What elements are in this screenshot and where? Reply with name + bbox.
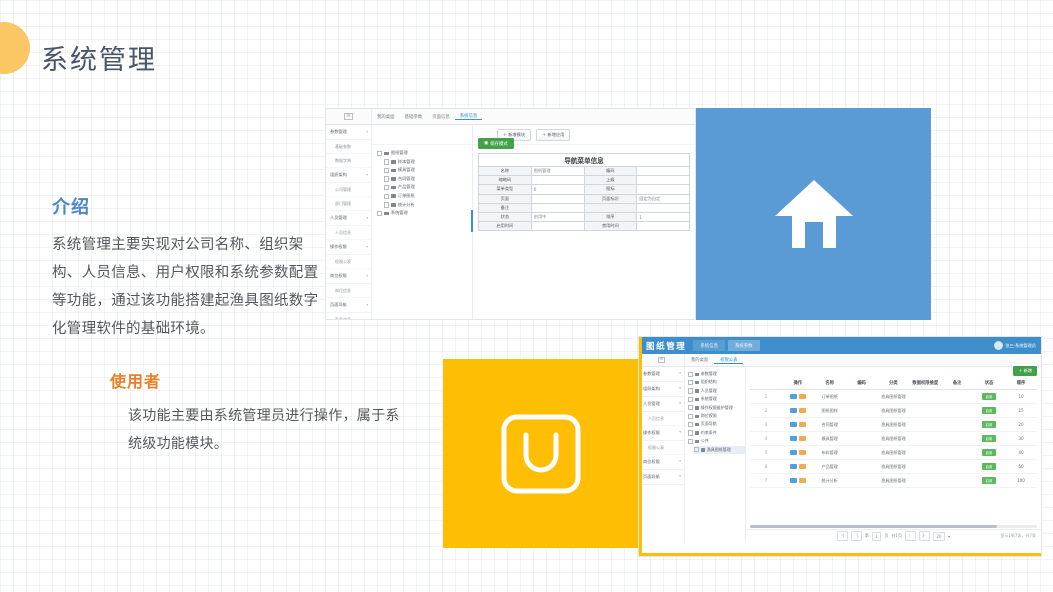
col-header-2: 名称	[814, 377, 846, 390]
intro-body: 系统管理主要实现对公司名称、组织架构、人员信息、用户权限和系统参数配置等功能，通…	[52, 231, 324, 343]
col-header-1: 操作	[782, 377, 814, 390]
checkbox-icon[interactable]	[377, 211, 382, 216]
row-index: 6	[750, 460, 782, 474]
checkbox-icon[interactable]	[688, 397, 693, 402]
sidebar-item-6[interactable]: 人员管理▾	[326, 211, 371, 226]
sub-tab-1[interactable]: 权限公表	[714, 357, 743, 364]
folder-icon	[391, 177, 396, 181]
form-row-3: 页面页面标识固定为自定	[479, 194, 690, 203]
table-row[interactable]: 2图纸图样渔具图纸管理启用15	[750, 404, 1037, 418]
row-name: 产品管理	[814, 460, 846, 474]
tree2-node-label: 页面导航	[701, 420, 717, 428]
view-icon[interactable]	[790, 464, 797, 470]
app-logo: 图纸管理	[639, 340, 693, 352]
tree2-node-5[interactable]: 岗位权限	[688, 412, 745, 420]
row-actions[interactable]	[782, 390, 814, 404]
page-input[interactable]: 1	[872, 532, 882, 541]
row-status: 启用	[973, 474, 1005, 488]
view-icon[interactable]	[790, 422, 797, 428]
checkbox-icon[interactable]	[384, 168, 389, 173]
sidebar-item-2[interactable]: 数据字典	[326, 154, 371, 168]
navigation-menu-form: ▣ 保存模式 导航菜单信息 名称图纸管理编码缩略码上级菜单类型0图标页面页面标识…	[473, 125, 695, 320]
chevron-down-icon: ▾	[366, 245, 368, 249]
record-total-text: 显示1到7条，共7条	[1000, 533, 1036, 539]
avatar	[994, 341, 1003, 350]
sidebar-item-7[interactable]: 人员信息	[326, 226, 371, 240]
shot2-left-accent	[639, 337, 642, 556]
table-row[interactable]: 7统计分析渔具图纸管理启用100	[750, 474, 1037, 488]
form-title: 导航菜单信息	[479, 154, 690, 167]
tree2-node-6[interactable]: 页面导航	[688, 420, 745, 428]
row-name: 订单图纸	[814, 390, 846, 404]
sidebar-item-5[interactable]: 部门管理	[326, 197, 371, 211]
sidebar2-item-3[interactable]: 人员信息	[639, 412, 684, 426]
row-dimension	[909, 474, 941, 488]
folder-icon	[695, 398, 699, 401]
chevron-down-icon: ▾	[679, 371, 681, 377]
shot2-main: ＋ 新增 操作名称编码分类数据权限维度备注状态顺序 1订单图纸渔具图纸管理启用1…	[746, 367, 1041, 542]
row-note	[941, 446, 973, 460]
folder-icon	[695, 406, 699, 409]
row-code	[846, 390, 878, 404]
form-label-right: 禁用时间	[584, 222, 637, 231]
chevron-down-icon: ▾	[366, 303, 368, 307]
status-badge: 启用	[982, 435, 996, 442]
edit-icon[interactable]	[799, 464, 806, 470]
row-order: 15	[1005, 404, 1037, 418]
row-dimension	[909, 418, 941, 432]
sidebar-group-label: 岗位权限	[330, 273, 347, 279]
edit-icon[interactable]	[799, 394, 806, 400]
user-name: 张三·系统管理员	[1005, 343, 1036, 349]
save-icon: ▣	[484, 141, 488, 146]
page-label: 第	[865, 533, 869, 539]
row-note	[941, 390, 973, 404]
form-row-4: 备注	[479, 203, 690, 212]
row-category: 渔具图纸管理	[878, 460, 910, 474]
row-note	[941, 460, 973, 474]
row-category: 渔具图纸管理	[878, 432, 910, 446]
row-dimension	[909, 390, 941, 404]
checkbox-icon[interactable]	[688, 439, 693, 444]
row-note	[941, 404, 973, 418]
form-label-left: 缩略码	[479, 176, 532, 185]
tab-0[interactable]: 我的桌面	[372, 114, 400, 120]
page-size-select[interactable]: 20	[933, 532, 945, 541]
checkbox-icon[interactable]	[384, 194, 389, 199]
row-order: 50	[1005, 460, 1037, 474]
folder-icon	[695, 440, 699, 443]
row-code	[846, 404, 878, 418]
sidebar2-item-7[interactable]: 页面导航▾	[639, 470, 684, 485]
sidebar-collapse-button[interactable]: ≡	[326, 109, 372, 124]
row-note	[941, 418, 973, 432]
tree-node-label: 样本管理	[398, 158, 415, 167]
col-header-4: 分类	[878, 377, 910, 390]
sub-tab-0[interactable]: 我的桌面	[685, 357, 714, 363]
form-label-left: 菜单类型	[479, 185, 532, 194]
checkbox-icon[interactable]	[384, 185, 389, 190]
row-note	[941, 474, 973, 488]
folder-icon	[695, 431, 699, 434]
horizontal-scrollbar[interactable]	[750, 525, 1037, 528]
intro-section: 介绍 系统管理主要实现对公司名称、组织架构、人员信息、用户权限和系统参数配置等功…	[52, 193, 324, 343]
user-heading: 使用者	[110, 368, 400, 392]
form-row-5: 状态启用中排序1	[479, 212, 690, 221]
row-order: 20	[1005, 418, 1037, 432]
row-category: 渔具图纸管理	[878, 474, 910, 488]
tree2-node-label: 人员管理	[701, 387, 717, 395]
sidebar-item-9[interactable]: 权限公表	[326, 255, 371, 269]
row-status: 启用	[973, 460, 1005, 474]
row-order: 30	[1005, 432, 1037, 446]
sidebar-group-label: 页面导航	[330, 302, 347, 308]
folder-icon	[391, 194, 396, 198]
tree2-node-label: 公共	[701, 437, 709, 445]
shot2-category-tree: 参数管理组织结构人员管理系统管理操作权限维护管理岗位权限页面导航约束条件公共渔具…	[685, 367, 746, 542]
sidebar-group-label: 人员管理	[643, 401, 660, 407]
checkbox-icon[interactable]	[688, 380, 693, 385]
row-actions[interactable]	[782, 460, 814, 474]
tree2-node-2[interactable]: 人员管理	[688, 387, 745, 395]
shot1-tabbar: ≡ 我的桌面基础参数页面信息系统信息	[326, 109, 695, 125]
folder-icon	[695, 415, 699, 418]
row-code	[846, 474, 878, 488]
form-value-left[interactable]: 图纸管理	[531, 167, 584, 176]
accent-circle-decoration	[0, 22, 30, 74]
shot1-main: ＋ 新增模块 ＋ 新增应用 图纸管理样本管理模具管理合同管理产品管理订单图纸统计…	[372, 125, 695, 320]
sidebar-item-4[interactable]: 公司管理	[326, 183, 371, 197]
tree2-node-3[interactable]: 系统管理	[688, 395, 745, 403]
row-category: 渔具图纸管理	[878, 418, 910, 432]
sidebar-group-label: 操作权限	[330, 244, 347, 250]
shot2-subtabbar: ≡ 我的桌面权限公表	[639, 354, 1041, 367]
status-badge: 启用	[982, 449, 996, 456]
tab-2[interactable]: 页面信息	[427, 114, 455, 120]
view-icon[interactable]	[790, 408, 797, 414]
row-name: 模具管理	[814, 432, 846, 446]
add-button[interactable]: ＋ 新增	[1013, 366, 1037, 376]
sidebar-item-3[interactable]: 组织架构▾	[326, 168, 371, 183]
col-header-6: 备注	[941, 377, 973, 390]
sidebar-group-label: 参数管理	[643, 371, 660, 377]
sidebar-group-label: 组织架构	[330, 172, 347, 178]
row-code	[846, 460, 878, 474]
tree2-node-label: 系统管理	[701, 395, 717, 403]
folder-icon	[391, 186, 396, 190]
form-value-right[interactable]	[637, 222, 690, 231]
sidebar2-item-1[interactable]: 组织架构▾	[639, 382, 684, 397]
last-page-button[interactable]: 》	[919, 531, 930, 541]
tree-node-label: 模具管理	[398, 166, 415, 175]
shot2-body: 参数管理▾组织架构▾人员管理▾人员信息操作权限▾权限公表岗位权限▾页面导航▾ 参…	[639, 367, 1041, 542]
tree-node-label: 系统管理	[391, 209, 408, 218]
tree2-node-9[interactable]: 渔具图纸管理	[694, 446, 745, 454]
view-icon[interactable]	[790, 478, 797, 484]
tab-3[interactable]: 系统信息	[455, 113, 483, 120]
user-section: 使用者 该功能主要由系统管理员进行操作，属于系统级功能模块。	[110, 368, 400, 458]
intro-heading: 介绍	[52, 193, 324, 219]
row-status: 启用	[973, 432, 1005, 446]
screenshot-navigation-menu-admin: ≡ 我的桌面基础参数页面信息系统信息 参数管理▾基础参数数据字典组织架构▾公司管…	[325, 108, 696, 320]
table-row[interactable]: 1订单图纸渔具图纸管理启用10	[750, 390, 1037, 404]
row-dimension	[909, 404, 941, 418]
col-header-5: 数据权限维度	[909, 377, 941, 390]
tree-node-label: 合同管理	[398, 175, 415, 184]
folder-icon	[384, 152, 389, 156]
row-category: 渔具图纸管理	[878, 404, 910, 418]
user-menu[interactable]: 张三·系统管理员	[994, 341, 1036, 350]
permission-table: 操作名称编码分类数据权限维度备注状态顺序 1订单图纸渔具图纸管理启用102图纸图…	[750, 377, 1037, 488]
row-status: 启用	[973, 404, 1005, 418]
yellow-app-panel	[443, 359, 639, 548]
tree-node-label: 图纸管理	[391, 149, 408, 158]
form-value-left[interactable]	[531, 203, 584, 212]
tree2-node-4[interactable]: 操作权限维护管理	[688, 404, 745, 412]
total-pages-label: 共1页	[891, 533, 902, 539]
checkbox-icon[interactable]	[384, 176, 389, 181]
form-value-right[interactable]	[637, 185, 690, 194]
form-value-right[interactable]	[637, 203, 690, 212]
tree-node-label: 订单图纸	[398, 192, 415, 201]
form-row-0: 名称图纸管理编码	[479, 167, 690, 176]
tree-node-label: 产品管理	[398, 183, 415, 192]
status-badge: 启用	[982, 393, 996, 400]
tree2-node-label: 参数管理	[701, 370, 717, 378]
sidebar-item-11[interactable]: 岗位信息	[326, 284, 371, 298]
edit-icon[interactable]	[799, 478, 806, 484]
row-category: 渔具图纸管理	[878, 390, 910, 404]
form-value-right[interactable]	[637, 167, 690, 176]
checkbox-icon[interactable]	[694, 447, 699, 452]
checkbox-icon[interactable]	[377, 151, 382, 156]
row-code	[846, 446, 878, 460]
page-of-label: 页	[884, 533, 888, 539]
chevron-down-icon: ▾	[948, 534, 950, 539]
form-row-6: 启用时间禁用时间	[479, 222, 690, 231]
form-row-1: 缩略码上级	[479, 176, 690, 185]
folder-icon	[391, 203, 396, 207]
edit-icon[interactable]	[799, 450, 806, 456]
tab-1[interactable]: 基础参数	[400, 114, 428, 120]
edit-icon[interactable]	[799, 408, 806, 414]
sidebar-group-label: 操作权限	[643, 430, 660, 436]
row-dimension	[909, 446, 941, 460]
col-header-3: 编码	[846, 377, 878, 390]
home-icon	[773, 178, 855, 250]
checkbox-icon[interactable]	[384, 202, 389, 207]
sidebar-group-label: 岗位权限	[643, 459, 660, 465]
row-index: 3	[750, 418, 782, 432]
form-label-right: 上级	[584, 176, 637, 185]
view-icon[interactable]	[790, 436, 797, 442]
form-value-left[interactable]	[531, 194, 584, 203]
save-mode-button[interactable]: ▣ 保存模式	[478, 138, 514, 149]
row-actions[interactable]	[782, 404, 814, 418]
tree2-node-label: 渔具图纸管理	[707, 446, 731, 454]
sidebar-item-12[interactable]: 页面导航▾	[326, 298, 371, 313]
form-row-2: 菜单类型0图标	[479, 185, 690, 194]
screenshot-permission-list-admin: 图纸管理 系统信息系统参数 张三·系统管理员 ≡ 我的桌面权限公表 参数管理▾组…	[638, 336, 1042, 557]
sidebar2-item-5[interactable]: 权限公表	[639, 441, 684, 455]
row-note	[941, 432, 973, 446]
sidebar-group-label: 组织架构	[643, 386, 660, 392]
row-status: 启用	[973, 418, 1005, 432]
form-label-right: 编码	[584, 167, 637, 176]
tree2-node-label: 约束条件	[701, 429, 717, 437]
tree2-node-label: 岗位权限	[701, 412, 717, 420]
checkbox-icon[interactable]	[688, 430, 693, 435]
blue-home-panel	[696, 108, 931, 320]
form-label-right: 排序	[584, 212, 637, 221]
tree2-node-label: 操作权限维护管理	[701, 404, 733, 412]
checkbox-icon[interactable]	[688, 405, 693, 410]
folder-icon	[391, 160, 396, 164]
sidebar-item-0[interactable]: 参数管理▾	[326, 125, 371, 140]
sidebar-item-13[interactable]: 页面信息	[326, 313, 371, 320]
row-index: 1	[750, 390, 782, 404]
form-value-right[interactable]: 固定为自定	[637, 194, 690, 203]
chevron-down-icon: ▾	[679, 474, 681, 480]
form-label-left: 页面	[479, 194, 532, 203]
row-order: 40	[1005, 446, 1037, 460]
row-category: 渔具图纸管理	[878, 446, 910, 460]
form-value-left[interactable]	[531, 176, 584, 185]
sidebar-item-10[interactable]: 岗位权限▾	[326, 269, 371, 284]
chevron-down-icon: ▾	[366, 130, 368, 134]
shot2-bottom-accent	[639, 553, 1041, 556]
user-body: 该功能主要由系统管理员进行操作，属于系统级功能模块。	[128, 402, 400, 458]
row-dimension	[909, 432, 941, 446]
row-status: 启用	[973, 446, 1005, 460]
table-row[interactable]: 5布料管理渔具图纸管理启用40	[750, 446, 1037, 460]
status-badge: 启用	[982, 421, 996, 428]
form-label-right: 页面标识	[584, 194, 637, 203]
tree-node-label: 统计分析	[398, 201, 415, 210]
chevron-down-icon: ▾	[366, 216, 368, 220]
form-label-left: 状态	[479, 212, 532, 221]
checkbox-icon[interactable]	[688, 388, 693, 393]
view-icon[interactable]	[790, 394, 797, 400]
row-dimension	[909, 460, 941, 474]
chevron-down-icon: ▾	[679, 459, 681, 465]
table-row[interactable]: 3合同管理渔具图纸管理启用20	[750, 418, 1037, 432]
row-actions[interactable]	[782, 432, 814, 446]
tree2-node-0[interactable]: 参数管理	[688, 370, 745, 378]
next-page-button[interactable]: 〉	[905, 531, 916, 541]
col-header-7: 状态	[973, 377, 1005, 390]
row-name: 图纸图样	[814, 404, 846, 418]
first-page-button[interactable]: 《	[837, 531, 848, 541]
sidebar-item-8[interactable]: 操作权限▾	[326, 240, 371, 255]
shot2-topbar: 图纸管理 系统信息系统参数 张三·系统管理员	[639, 337, 1041, 354]
form-label-right: 图标	[584, 185, 637, 194]
page-title: 系统管理	[41, 38, 157, 77]
form-value-right[interactable]	[637, 176, 690, 185]
folder-icon	[391, 169, 396, 173]
row-name: 合同管理	[814, 418, 846, 432]
save-mode-label: 保存模式	[490, 141, 508, 147]
tree2-node-1[interactable]: 组织结构	[688, 378, 745, 386]
form-value-right[interactable]: 1	[637, 212, 690, 221]
row-actions[interactable]	[782, 446, 814, 460]
tree2-node-7[interactable]: 约束条件	[688, 429, 745, 437]
shot1-sidebar: 参数管理▾基础参数数据字典组织架构▾公司管理部门管理人员管理▾人员信息操作权限▾…	[326, 125, 372, 320]
folder-icon	[384, 212, 389, 216]
row-name: 统计分析	[814, 474, 846, 488]
form-value-left[interactable]	[531, 222, 584, 231]
sidebar-item-1[interactable]: 基础参数	[326, 140, 371, 154]
shot2-sidebar: 参数管理▾组织架构▾人员管理▾人员信息操作权限▾权限公表岗位权限▾页面导航▾	[639, 367, 685, 542]
sidebar-group-label: 参数管理	[330, 129, 347, 135]
top-tab-0[interactable]: 系统信息	[693, 340, 725, 351]
sidebar-group-label: 人员管理	[330, 215, 347, 221]
folder-icon	[701, 448, 705, 451]
form-label-right	[584, 203, 637, 212]
tree2-node-8[interactable]: 公共	[688, 437, 745, 445]
col-header-0	[750, 377, 782, 390]
table-row[interactable]: 6产品管理渔具图纸管理启用50	[750, 460, 1037, 474]
chevron-down-icon: ▾	[366, 274, 368, 278]
row-name: 布料管理	[814, 446, 846, 460]
row-order: 10	[1005, 390, 1037, 404]
chevron-down-icon: ▾	[679, 430, 681, 436]
folder-icon	[695, 389, 699, 392]
status-badge: 启用	[982, 407, 996, 414]
folder-icon	[695, 423, 699, 426]
col-header-8: 顺序	[1005, 377, 1037, 390]
status-badge: 启用	[982, 463, 996, 470]
folder-icon	[695, 381, 699, 384]
pagination-bar: 《 〈 第 1 页 共1页 〉 》 20 ▾ 显示1到7条，共7条	[746, 529, 1041, 542]
edit-icon[interactable]	[799, 436, 806, 442]
view-icon[interactable]	[790, 450, 797, 456]
checkbox-icon[interactable]	[688, 414, 693, 419]
chevron-down-icon: ▾	[679, 401, 681, 407]
sidebar-group-label: 页面导航	[643, 474, 660, 480]
form-value-left[interactable]: 0	[531, 185, 584, 194]
checkbox-icon[interactable]	[384, 159, 389, 164]
form-label-left: 备注	[479, 203, 532, 212]
sidebar2-item-2[interactable]: 人员管理▾	[639, 397, 684, 412]
sidebar-collapse-button-2[interactable]: ≡	[639, 354, 685, 366]
chevron-down-icon: ▾	[366, 173, 368, 177]
prev-page-button[interactable]: 〈	[851, 531, 862, 541]
row-actions[interactable]	[782, 418, 814, 432]
top-tab-1[interactable]: 系统参数	[728, 340, 760, 351]
sidebar2-item-0[interactable]: 参数管理▾	[639, 367, 684, 382]
tree2-node-label: 组织结构	[701, 378, 717, 386]
row-index: 5	[750, 446, 782, 460]
form-value-left[interactable]: 启用中	[531, 212, 584, 221]
row-status: 启用	[973, 390, 1005, 404]
row-index: 7	[750, 474, 782, 488]
checkbox-icon[interactable]	[688, 372, 693, 377]
sidebar2-item-4[interactable]: 操作权限▾	[639, 426, 684, 441]
app-u-icon	[500, 413, 582, 495]
row-actions[interactable]	[782, 474, 814, 488]
row-code	[846, 418, 878, 432]
chevron-down-icon: ▾	[679, 386, 681, 392]
form-label-left: 启用时间	[479, 222, 532, 231]
table-row[interactable]: 4模具管理渔具图纸管理启用30	[750, 432, 1037, 446]
row-index: 2	[750, 404, 782, 418]
sidebar2-item-6[interactable]: 岗位权限▾	[639, 455, 684, 470]
row-code	[846, 432, 878, 446]
checkbox-icon[interactable]	[688, 422, 693, 427]
form-label-left: 名称	[479, 167, 532, 176]
edit-icon[interactable]	[799, 422, 806, 428]
